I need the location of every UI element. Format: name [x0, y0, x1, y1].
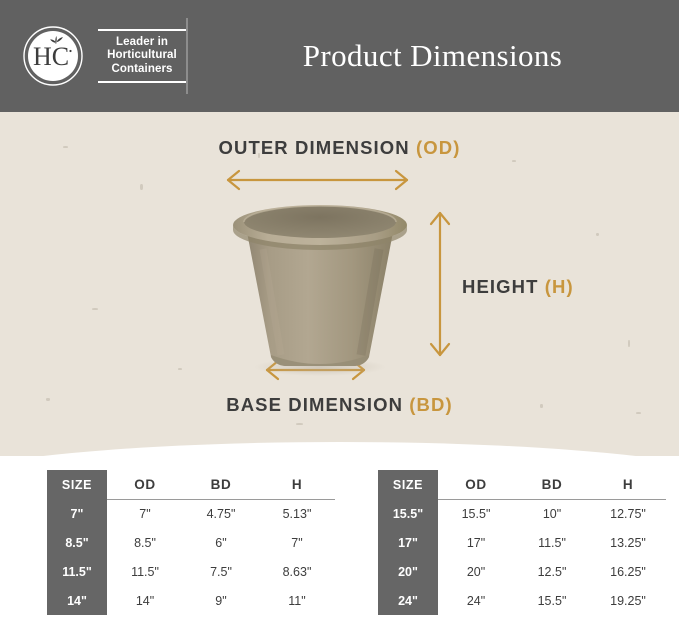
table-row: 7" 7" 4.75" 5.13" [47, 499, 335, 528]
dimension-tables: SIZE OD BD H 7" 7" 4.75" 5.13" 8.5" 8.5"… [0, 470, 679, 636]
column-header-h: H [590, 470, 666, 499]
cell-od: 20" [438, 557, 514, 586]
cell-bd: 10" [514, 499, 590, 528]
table-row: 24" 24" 15.5" 19.25" [378, 586, 666, 615]
cell-size: 24" [378, 586, 438, 615]
tagline-line-1: Leader in [98, 36, 186, 50]
cell-bd: 6" [183, 528, 259, 557]
cell-h: 16.25" [590, 557, 666, 586]
cell-h: 19.25" [590, 586, 666, 615]
cell-h: 13.25" [590, 528, 666, 557]
dimension-table-large: SIZE OD BD H 15.5" 15.5" 10" 12.75" 17" … [378, 470, 666, 615]
tagline-line-3: Containers [98, 63, 186, 77]
diagram-panel: OUTER DIMENSION (OD) BASE DIMENSION (BD)… [0, 112, 679, 456]
cell-od: 7" [107, 499, 183, 528]
cell-size: 7" [47, 499, 107, 528]
page-title: Product Dimensions [186, 0, 679, 112]
header-bar: HC Leader in Horticultural Containers Pr… [0, 0, 679, 112]
cell-bd: 12.5" [514, 557, 590, 586]
brand-logo: HC Leader in Horticultural Containers [22, 25, 186, 87]
table-row: 17" 17" 11.5" 13.25" [378, 528, 666, 557]
cell-size: 17" [378, 528, 438, 557]
svg-text:HC: HC [33, 42, 69, 71]
cell-od: 11.5" [107, 557, 183, 586]
cell-size: 20" [378, 557, 438, 586]
column-header-od: OD [107, 470, 183, 499]
cell-size: 11.5" [47, 557, 107, 586]
table-row: 20" 20" 12.5" 16.25" [378, 557, 666, 586]
tagline-rule-top [98, 29, 186, 31]
table-row: 8.5" 8.5" 6" 7" [47, 528, 335, 557]
column-header-h: H [259, 470, 335, 499]
planter-pot-illustration [215, 197, 425, 377]
table-row: 11.5" 11.5" 7.5" 8.63" [47, 557, 335, 586]
table-header-row: SIZE OD BD H [378, 470, 666, 499]
tagline-rule-bottom [98, 81, 186, 83]
column-header-size: SIZE [378, 470, 438, 499]
cell-bd: 11.5" [514, 528, 590, 557]
tagline-line-2: Horticultural [98, 49, 186, 63]
column-header-bd: BD [514, 470, 590, 499]
cell-od: 24" [438, 586, 514, 615]
cell-h: 8.63" [259, 557, 335, 586]
column-header-od: OD [438, 470, 514, 499]
column-header-size: SIZE [47, 470, 107, 499]
dimension-table-small: SIZE OD BD H 7" 7" 4.75" 5.13" 8.5" 8.5"… [47, 470, 335, 615]
cell-bd: 9" [183, 586, 259, 615]
cell-size: 8.5" [47, 528, 107, 557]
cell-bd: 4.75" [183, 499, 259, 528]
table-row: 15.5" 15.5" 10" 12.75" [378, 499, 666, 528]
cell-h: 11" [259, 586, 335, 615]
cell-bd: 15.5" [514, 586, 590, 615]
table-row: 14" 14" 9" 11" [47, 586, 335, 615]
cell-size: 14" [47, 586, 107, 615]
od-horizontal-arrow [228, 171, 407, 189]
column-header-bd: BD [183, 470, 259, 499]
brand-tagline: Leader in Horticultural Containers [98, 29, 186, 83]
cell-od: 17" [438, 528, 514, 557]
cell-h: 12.75" [590, 499, 666, 528]
cell-od: 8.5" [107, 528, 183, 557]
cell-bd: 7.5" [183, 557, 259, 586]
cell-od: 15.5" [438, 499, 514, 528]
hc-circle-logo-icon: HC [22, 25, 84, 87]
cell-od: 14" [107, 586, 183, 615]
table-header-row: SIZE OD BD H [47, 470, 335, 499]
cell-h: 7" [259, 528, 335, 557]
cell-h: 5.13" [259, 499, 335, 528]
height-vertical-arrow [431, 213, 449, 355]
cell-size: 15.5" [378, 499, 438, 528]
